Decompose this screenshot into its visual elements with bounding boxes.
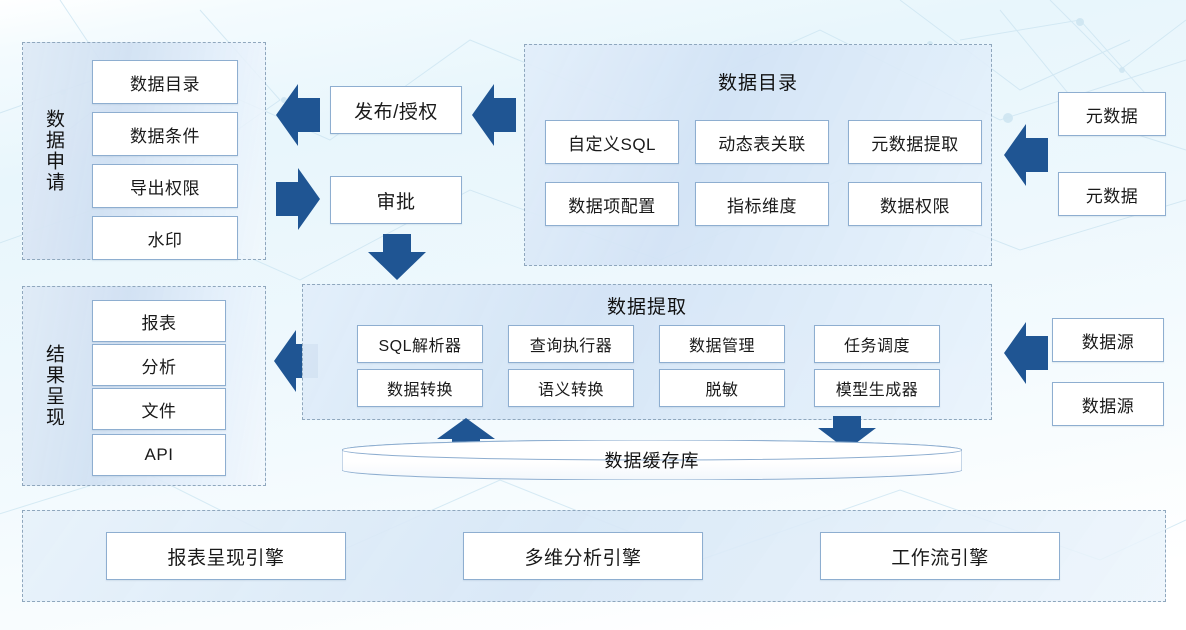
flow-approve[interactable]: 审批	[330, 176, 462, 224]
apply-item-data-catalog[interactable]: 数据目录	[92, 60, 238, 104]
result-item-file[interactable]: 文件	[92, 388, 226, 430]
arrow-left-to-apply	[276, 84, 320, 146]
data-extraction-title: 数据提取	[302, 292, 992, 319]
arrow-down-to-extract	[368, 234, 426, 280]
extract-item-query-executor[interactable]: 查询执行器	[508, 325, 634, 363]
extract-item-desensitization[interactable]: 脱敏	[659, 369, 785, 407]
data-cache-store-label: 数据缓存库	[342, 440, 962, 480]
arrow-right-to-approve	[276, 168, 320, 230]
apply-item-export-permission[interactable]: 导出权限	[92, 164, 238, 208]
metadata-source-2[interactable]: 元数据	[1058, 172, 1166, 216]
data-source-2[interactable]: 数据源	[1052, 382, 1164, 426]
engine-report-rendering[interactable]: 报表呈现引擎	[106, 532, 346, 580]
extract-item-semantic-transform[interactable]: 语义转换	[508, 369, 634, 407]
extract-item-model-generator[interactable]: 模型生成器	[814, 369, 940, 407]
result-presentation-side-label: 结果呈现	[30, 296, 76, 476]
catalog-item-custom-sql[interactable]: 自定义SQL	[545, 120, 679, 164]
apply-item-data-condition[interactable]: 数据条件	[92, 112, 238, 156]
data-catalog-title: 数据目录	[524, 68, 992, 95]
data-source-1[interactable]: 数据源	[1052, 318, 1164, 362]
apply-item-watermark[interactable]: 水印	[92, 216, 238, 260]
data-apply-side-label: 数据申请	[30, 52, 76, 250]
catalog-item-dynamic-table-join[interactable]: 动态表关联	[695, 120, 829, 164]
result-item-report[interactable]: 报表	[92, 300, 226, 342]
arrow-left-to-publish	[472, 84, 516, 146]
engine-multidim-analysis[interactable]: 多维分析引擎	[463, 532, 703, 580]
engine-workflow[interactable]: 工作流引擎	[820, 532, 1060, 580]
result-item-api[interactable]: API	[92, 434, 226, 476]
extract-item-data-transform[interactable]: 数据转换	[357, 369, 483, 407]
data-cache-store[interactable]: 数据缓存库	[342, 440, 962, 480]
arrow-left-datasource-to-extract	[1004, 322, 1048, 384]
catalog-item-data-permission[interactable]: 数据权限	[848, 182, 982, 226]
extract-item-task-scheduling[interactable]: 任务调度	[814, 325, 940, 363]
arrow-left-metadata-to-catalog	[1004, 124, 1048, 186]
catalog-item-metric-dimension[interactable]: 指标维度	[695, 182, 829, 226]
catalog-item-metadata-extraction[interactable]: 元数据提取	[848, 120, 982, 164]
metadata-source-1[interactable]: 元数据	[1058, 92, 1166, 136]
extract-item-data-management[interactable]: 数据管理	[659, 325, 785, 363]
catalog-item-data-field-config[interactable]: 数据项配置	[545, 182, 679, 226]
diagram-canvas: 数据申请 数据目录 数据条件 导出权限 水印 发布/授权 审批 数据目录 自定义…	[0, 0, 1186, 630]
result-item-analysis[interactable]: 分析	[92, 344, 226, 386]
flow-publish-authorize[interactable]: 发布/授权	[330, 86, 462, 134]
extract-item-sql-parser[interactable]: SQL解析器	[357, 325, 483, 363]
